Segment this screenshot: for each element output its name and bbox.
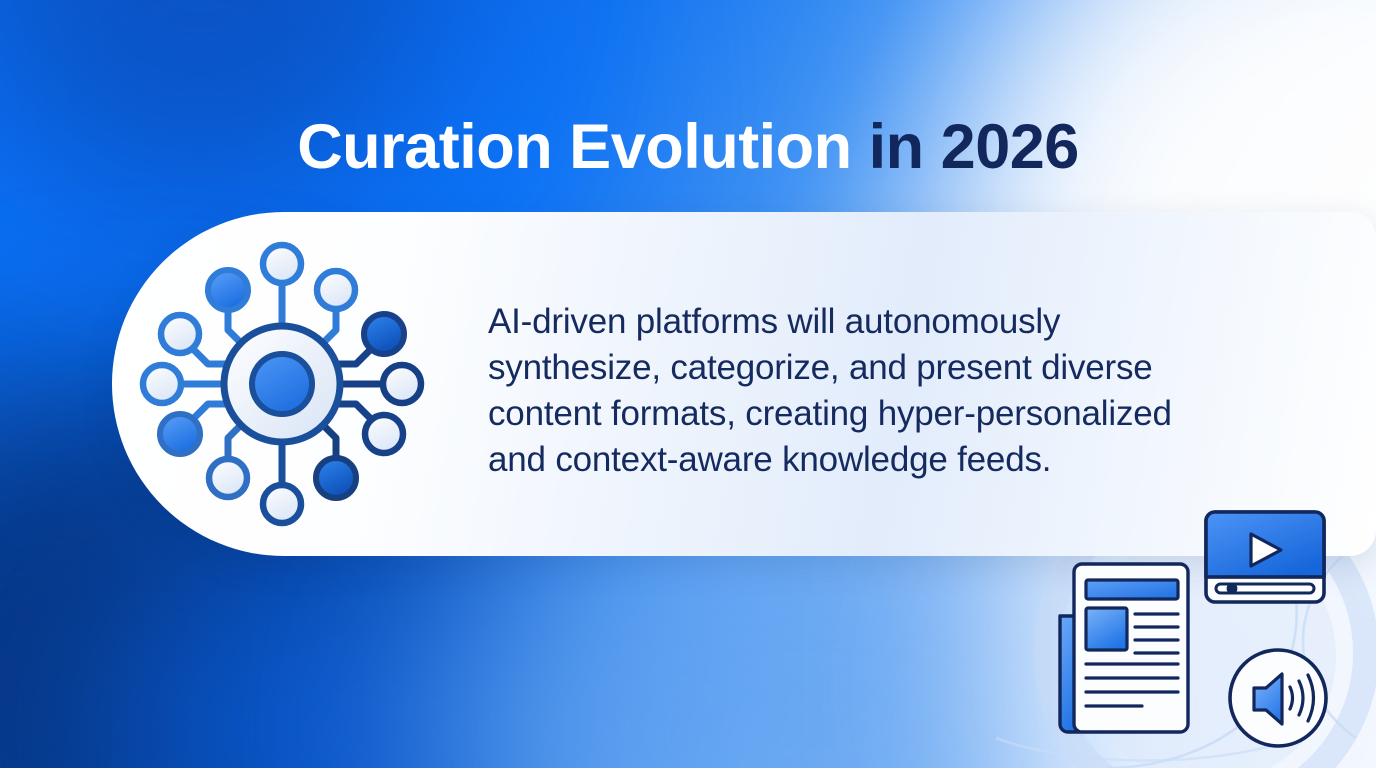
slide-canvas: Curation Evolution in 2026 [0,0,1376,768]
video-player-icon [1206,512,1324,602]
page-title-highlight: Curation Evolution [297,112,851,182]
media-icons-cluster [1050,498,1376,768]
speaker-audio-icon [1230,650,1326,746]
newspaper-icon [1060,564,1188,732]
page-title: Curation Evolution in 2026 [0,114,1376,180]
network-nodes-icon [122,224,442,544]
card-body-text: AI-driven platforms will autonomously sy… [488,299,1218,483]
page-title-accent: in 2026 [869,112,1079,182]
